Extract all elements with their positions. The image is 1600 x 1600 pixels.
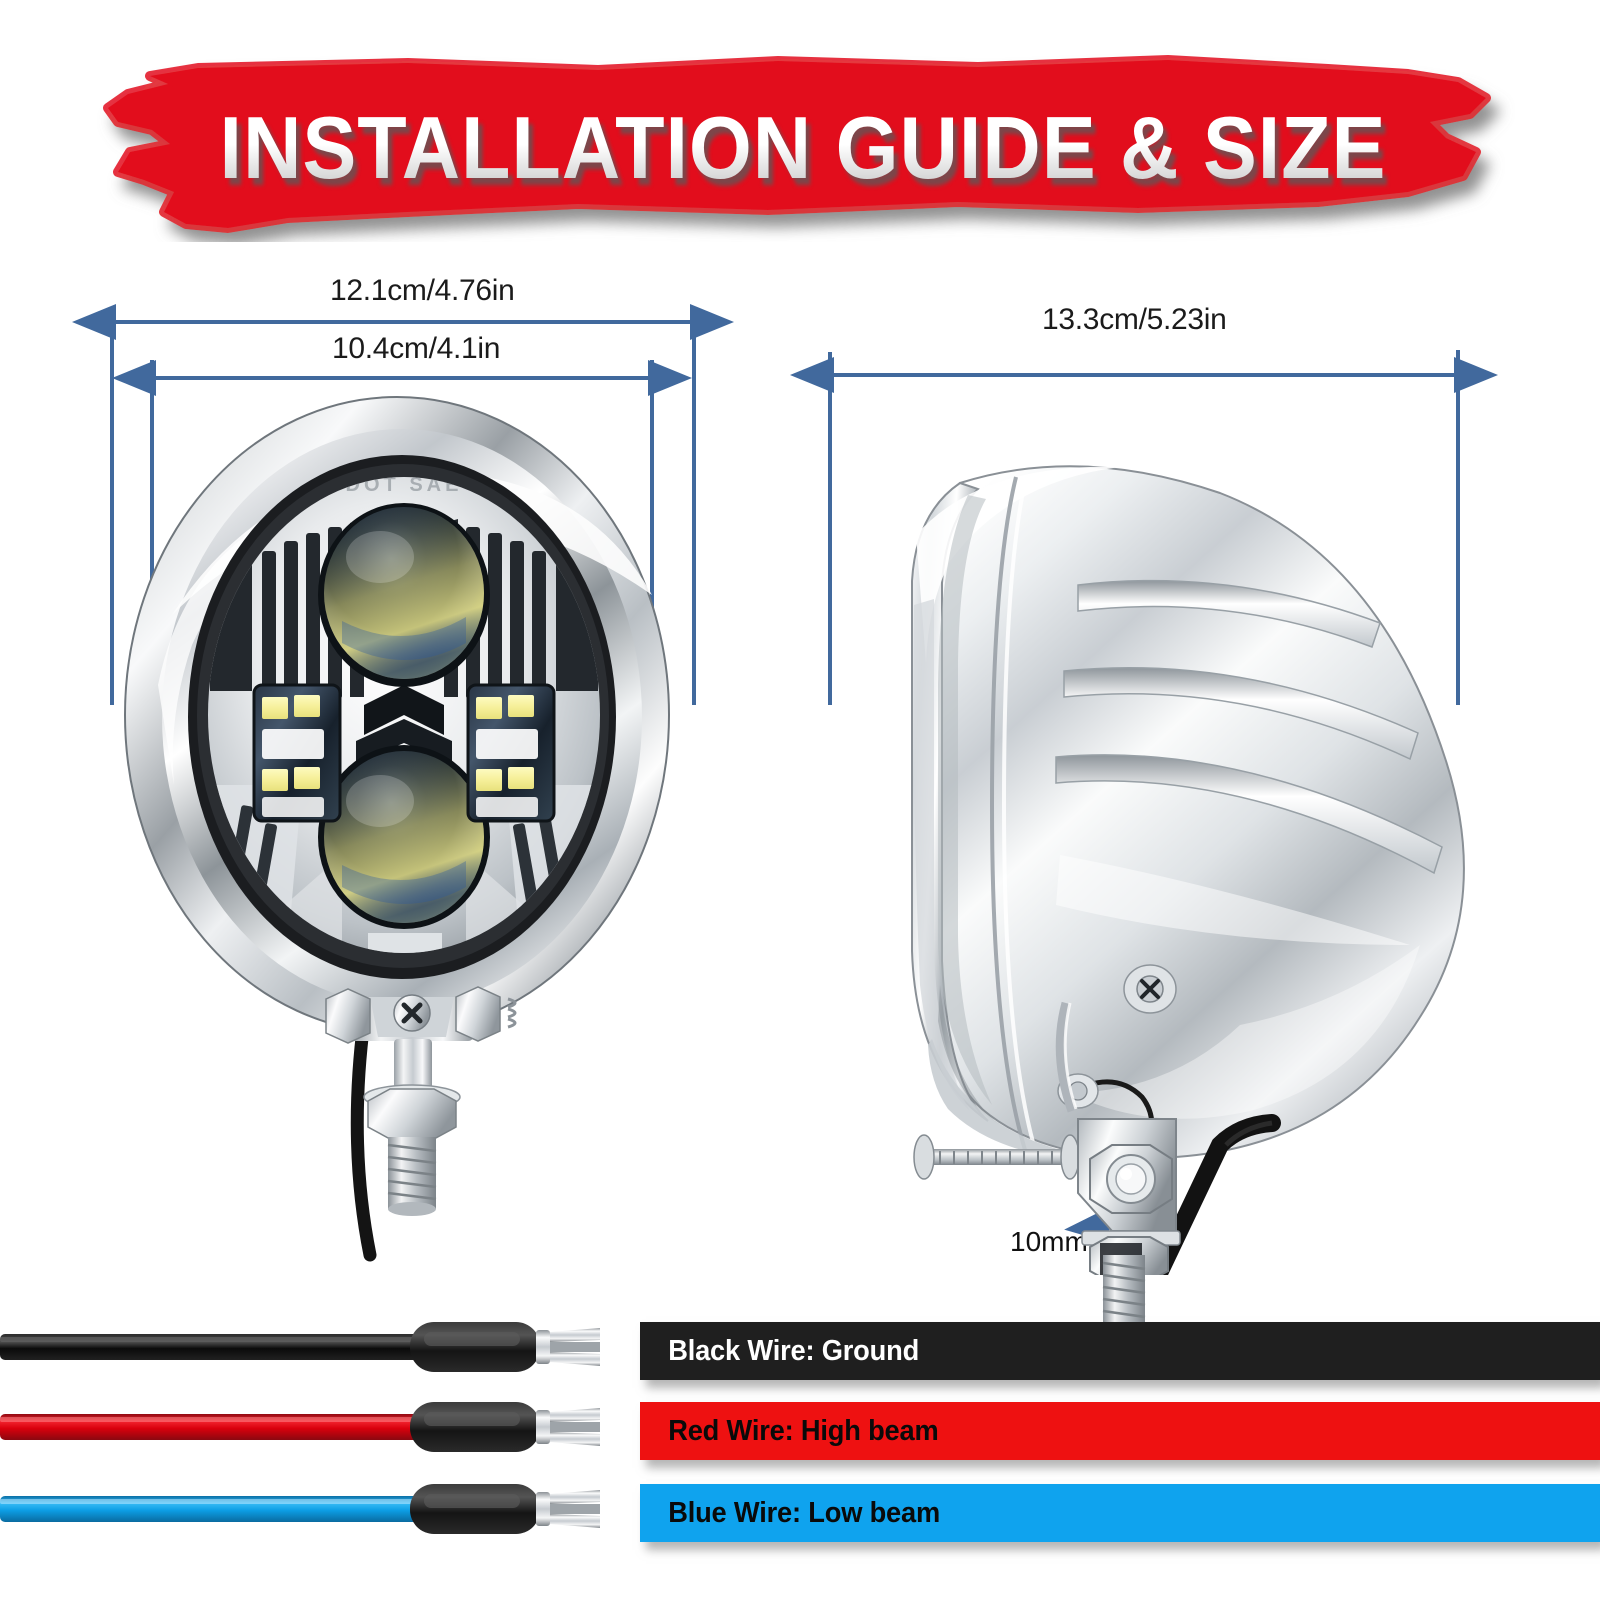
- projector-lens-bottom: [318, 745, 490, 929]
- wire-cable-blue: [0, 1462, 640, 1582]
- adjust-screw: [1124, 965, 1176, 1013]
- dimension-label-side-depth: 13.3cm/5.23in: [1042, 303, 1227, 337]
- wire-label-text-black: Black Wire: Ground: [640, 1335, 919, 1368]
- wire-label-text-blue: Blue Wire: Low beam: [640, 1497, 940, 1530]
- wire-label-bar-red: Red Wire: High beam: [640, 1402, 1600, 1460]
- dimension-label-front-outer: 12.1cm/4.76in: [330, 274, 515, 308]
- wire-label-bar-black: Black Wire: Ground: [640, 1322, 1600, 1380]
- headlight-side-view-image: [820, 385, 1500, 1275]
- wire-row-blue: Blue Wire: Low beam: [0, 1462, 1600, 1582]
- infographic-page: INSTALLATION GUIDE & SIZE: [0, 0, 1600, 1600]
- wire-label-text-red: Red Wire: High beam: [640, 1415, 939, 1448]
- dimension-label-front-inner: 10.4cm/4.1in: [332, 332, 500, 366]
- headlight-front-view-image: DOT SAE: [112, 385, 712, 1265]
- led-array-left: [254, 685, 340, 821]
- led-array-right: [468, 685, 554, 821]
- projector-lens-top: [318, 503, 490, 687]
- banner-brush-shape: [78, 52, 1528, 242]
- title-banner: INSTALLATION GUIDE & SIZE: [78, 52, 1528, 242]
- wire-label-bar-blue: Blue Wire: Low beam: [640, 1484, 1600, 1542]
- front-view-wire: [357, 1021, 370, 1255]
